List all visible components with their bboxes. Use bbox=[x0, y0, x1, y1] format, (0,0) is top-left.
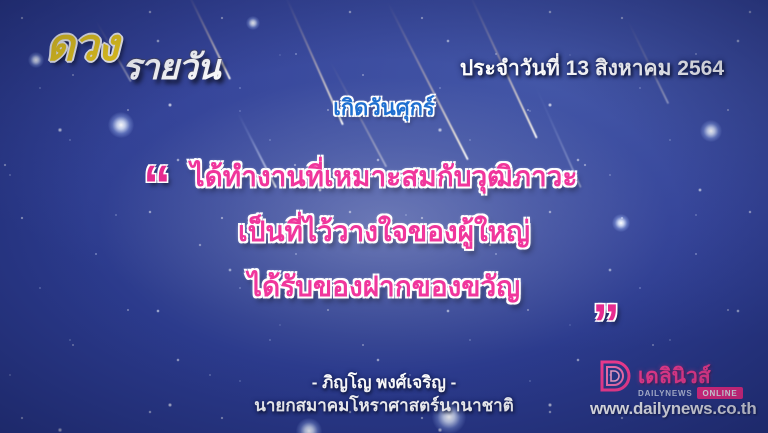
quote-line: ได้รับของฝากของขวัญ bbox=[0, 273, 768, 301]
horoscope-quote: ได้ทำงานที่เหมาะสมกับวุฒิภาวะ เป็นที่ไว้… bbox=[0, 163, 768, 301]
quote-line: เป็นที่ไว้วางใจของผู้ใหญ่ bbox=[0, 218, 768, 246]
dailynews-thai-name: เดลินิวส์ bbox=[638, 366, 711, 387]
brand-word-duang: ดวง bbox=[46, 24, 118, 68]
horoscope-card: ดวง รายวัน ประจำวันที่ 13 สิงหาคม 2564 เ… bbox=[0, 0, 768, 433]
dailynews-logo[interactable]: เดลินิวส์ DAILYNEWS ONLINE www.dailynews… bbox=[590, 359, 768, 421]
glow-star bbox=[28, 52, 44, 68]
dailynews-d-mark-icon bbox=[598, 359, 632, 393]
brand-word-raiwan: รายวัน bbox=[122, 50, 220, 85]
day-of-birth-label: เกิดวันศุกร์ bbox=[0, 90, 768, 125]
dailynews-english-name: DAILYNEWS bbox=[638, 389, 692, 398]
website-url[interactable]: www.dailynews.co.th bbox=[590, 399, 757, 419]
brand-logo: ดวง รายวัน bbox=[46, 24, 276, 92]
quote-close-icon: ” bbox=[592, 296, 620, 352]
dailynews-sublabel: DAILYNEWS ONLINE bbox=[638, 387, 743, 399]
quote-line: ได้ทำงานที่เหมาะสมกับวุฒิภาวะ bbox=[0, 163, 768, 191]
online-badge: ONLINE bbox=[697, 387, 742, 399]
date-label: ประจำวันที่ 13 สิงหาคม 2564 bbox=[460, 52, 724, 85]
